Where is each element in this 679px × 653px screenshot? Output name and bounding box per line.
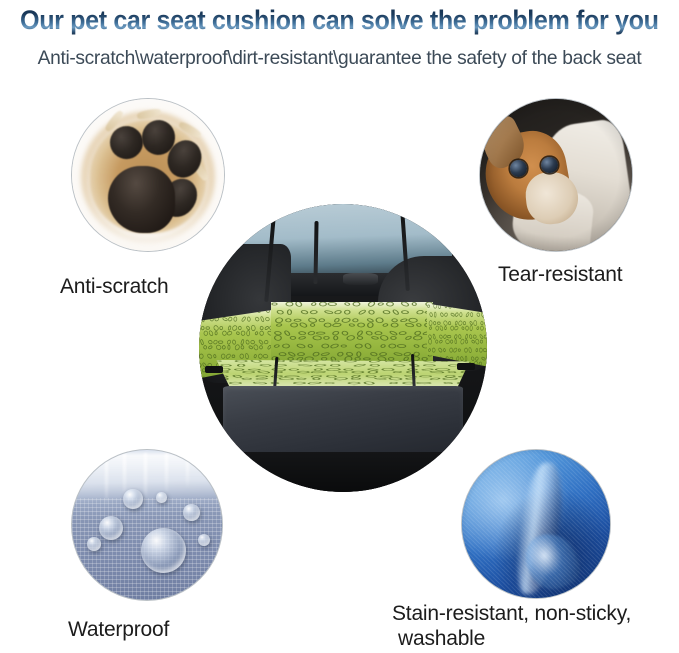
cushion-body <box>199 302 487 463</box>
feature-image-stain-resistant <box>462 450 610 598</box>
blue-satin-fabric-icon <box>462 450 610 598</box>
product-image-pet-car-seat-cushion <box>199 204 487 492</box>
page-subtitle: Anti-scratch\waterproof\dirt-resistant\g… <box>5 47 674 70</box>
feature-label-tear-resistant: Tear-resistant <box>498 263 679 288</box>
feature-label-stain-resistant-line1: Stain-resistant, non-sticky, <box>392 602 631 625</box>
car-interior-scene <box>199 204 487 492</box>
feature-image-waterproof <box>72 450 222 600</box>
page-title-container: Our pet car seat cushion can solve the p… <box>0 0 679 40</box>
feature-label-waterproof: Waterproof <box>68 618 268 643</box>
feature-image-tear-resistant <box>480 99 632 251</box>
chihuahua-biting-fabric-icon <box>480 99 632 251</box>
water-droplets-icon <box>72 450 222 600</box>
leaf-pattern-back <box>271 302 433 370</box>
feature-label-stain-resistant-line2: washable <box>392 627 679 652</box>
feature-label-stain-resistant: Stain-resistant, non-sticky, washable <box>392 602 679 652</box>
infographic-canvas: Our pet car seat cushion can solve the p… <box>0 0 679 653</box>
page-title: Our pet car seat cushion can solve the p… <box>20 5 659 36</box>
